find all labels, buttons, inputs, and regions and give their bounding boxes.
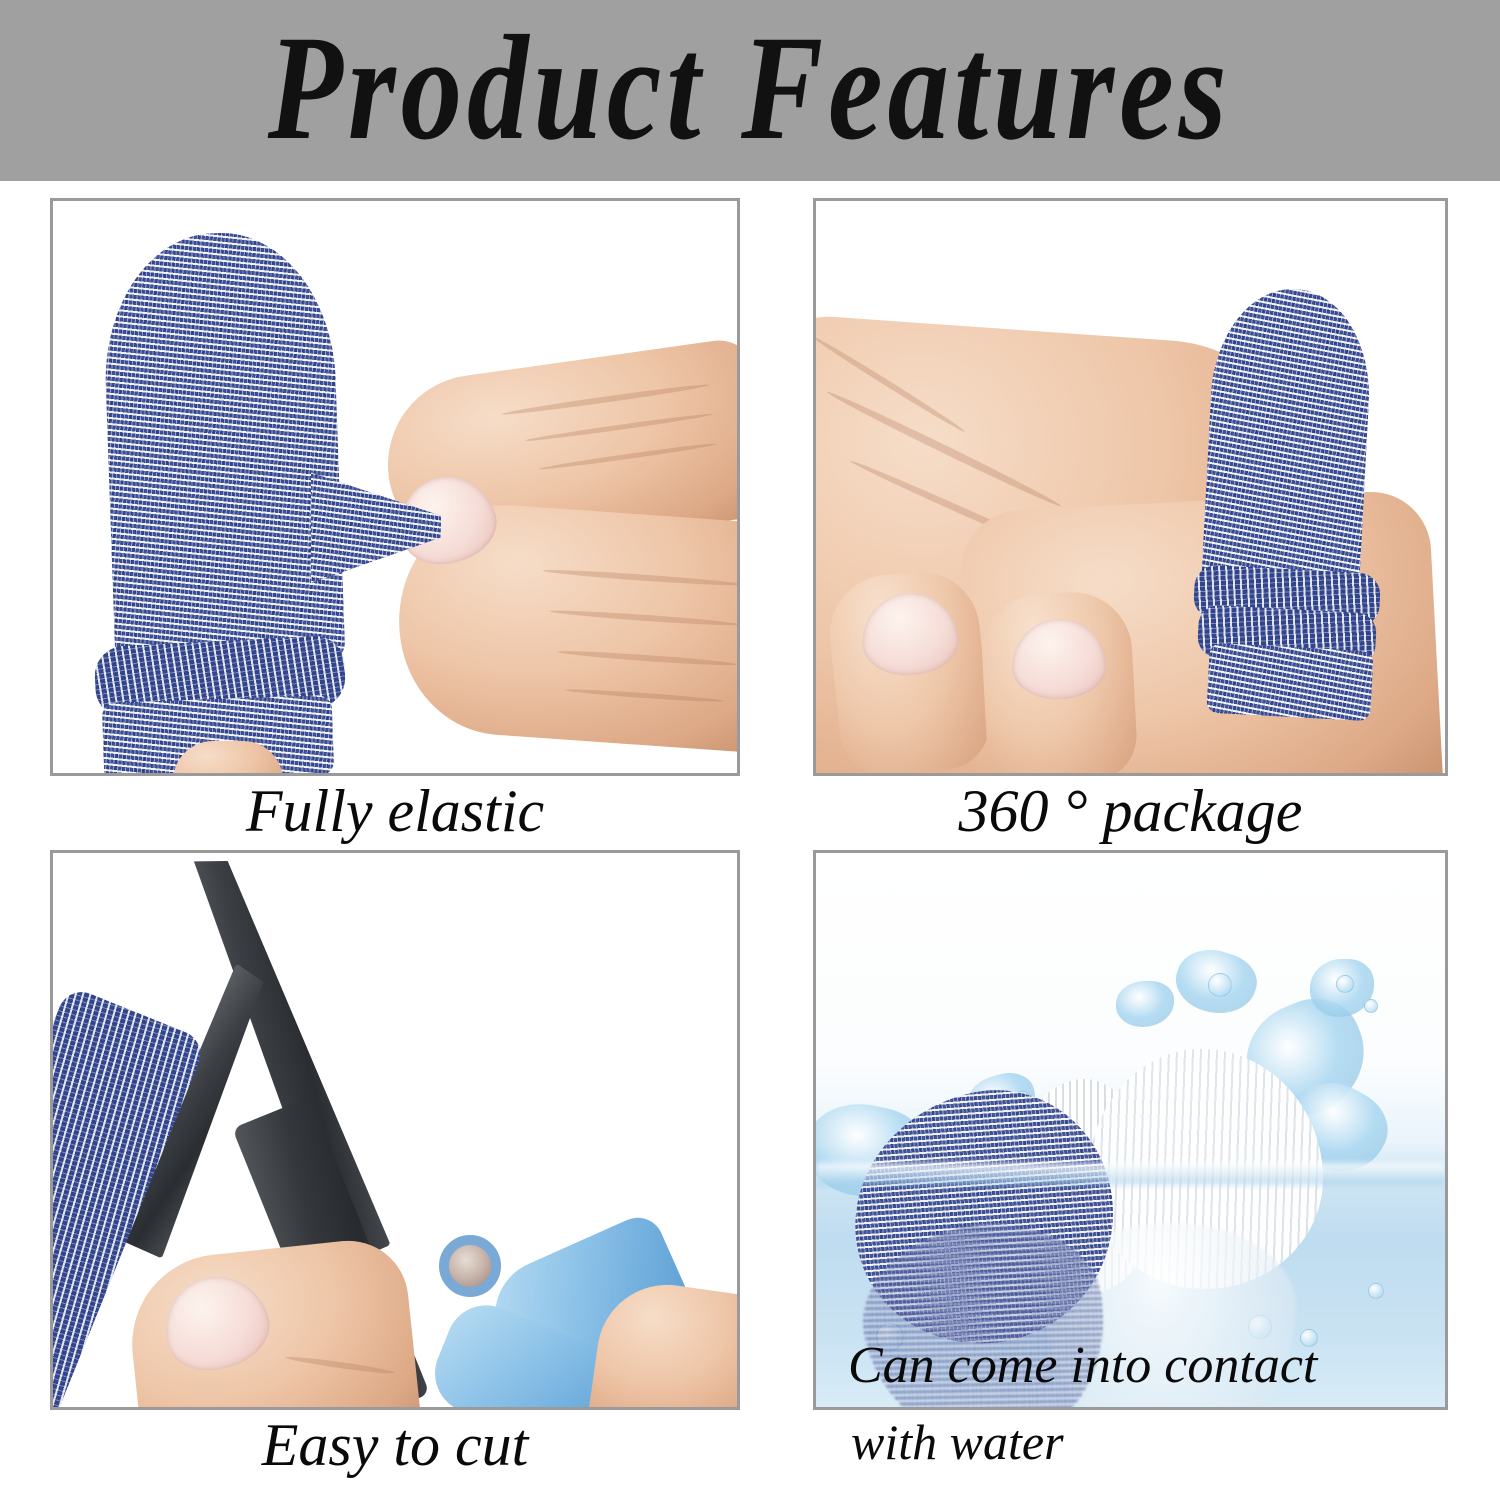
feature-card-water-contact: Can come into contact with water [813, 850, 1448, 1410]
scissor-pivot-screw [439, 1235, 501, 1297]
hand-pinching [357, 351, 737, 773]
water-droplet-8 [1368, 1283, 1384, 1299]
photo-scissors-cutting [53, 853, 737, 1407]
feature-card-360-package: 360 ° package [813, 198, 1448, 776]
feature-caption-360-package: 360 ° package [813, 780, 1448, 844]
feature-card-easy-to-cut: Easy to cut [50, 850, 740, 1410]
feature-image-easy-to-cut [50, 850, 740, 1410]
finger-cot-body [101, 229, 346, 667]
feature-image-360-package [813, 198, 1448, 776]
feature-caption-easy-to-cut: Easy to cut [50, 1414, 740, 1478]
features-grid: Fully elastic [0, 181, 1500, 1495]
feature-caption-water-line2: with water [851, 1416, 1064, 1469]
water-droplet-3 [1364, 999, 1378, 1013]
feature-image-water-contact: Can come into contact [813, 850, 1448, 1410]
photo-worn-cot [816, 201, 1445, 773]
page-title: Product Features [268, 13, 1232, 163]
feature-caption-fully-elastic: Fully elastic [50, 780, 740, 844]
feature-caption-water-line1: Can come into contact [848, 1338, 1317, 1393]
water-droplet-1 [1208, 973, 1232, 997]
feature-image-fully-elastic [50, 198, 740, 776]
water-droplet-2 [1336, 975, 1354, 993]
photo-water-splash: Can come into contact [816, 853, 1445, 1407]
holding-thumbnail [153, 1264, 278, 1381]
hand-holding-fabric [123, 1235, 422, 1407]
water-surface-line [816, 1163, 1445, 1185]
feature-card-fully-elastic: Fully elastic [50, 198, 740, 776]
photo-stretched-cot [53, 201, 737, 773]
finger-cot-worn-base [1206, 643, 1373, 721]
header-band: Product Features [0, 0, 1500, 181]
